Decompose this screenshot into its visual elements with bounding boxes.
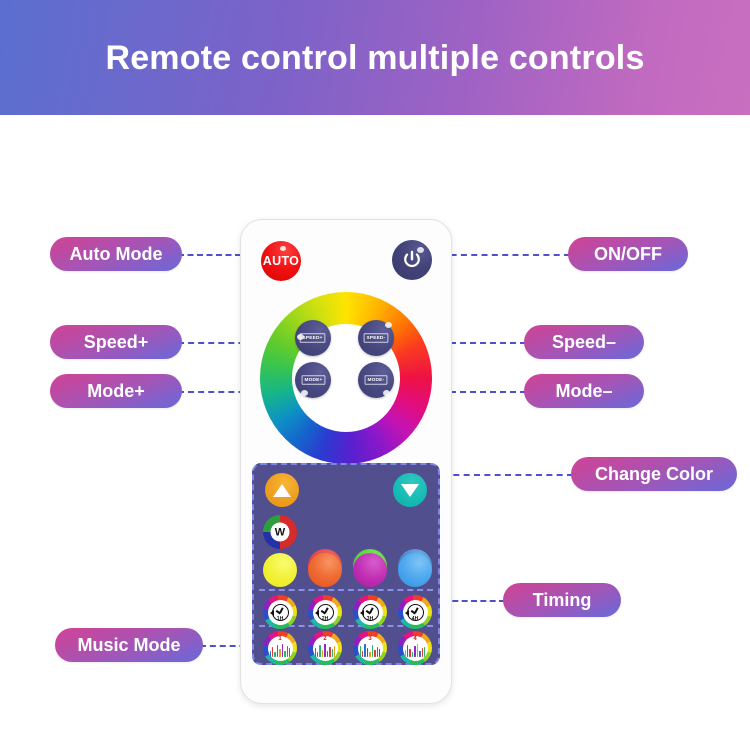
equalizer-icon: 3 <box>360 640 381 657</box>
label-mode-plus[interactable]: Mode+ <box>50 374 182 408</box>
mode-down-glare-icon <box>383 390 390 396</box>
label-on-off-text: ON/OFF <box>594 244 662 265</box>
label-speed-minus[interactable]: Speed– <box>524 325 644 359</box>
music-mode-2-label: 2 <box>323 636 326 642</box>
label-auto-mode-text: Auto Mode <box>70 244 163 265</box>
label-mode-plus-text: Mode+ <box>87 381 145 402</box>
label-speed-plus-text: Speed+ <box>84 332 149 353</box>
timer-2h-label: 2H <box>316 617 335 622</box>
brightness-up-icon <box>273 484 291 497</box>
timer-4h-label: 4H <box>406 617 425 622</box>
orange-button[interactable] <box>308 553 342 587</box>
page-title: Remote control multiple controls <box>105 41 644 75</box>
equalizer-icon: 2 <box>315 640 336 657</box>
clock-arrow-icon <box>270 610 274 616</box>
clock-icon: 1H <box>271 603 290 622</box>
music-mode-4-button[interactable]: 4 <box>398 631 432 665</box>
music-mode-4-label: 4 <box>413 636 416 642</box>
lightblue-button[interactable] <box>398 553 432 587</box>
timer-2h-core: 2H <box>313 600 338 625</box>
label-mode-minus-text: Mode– <box>555 381 612 402</box>
music-row: 1 2 <box>263 631 433 665</box>
yellow-button[interactable] <box>263 553 297 587</box>
label-speed-plus[interactable]: Speed+ <box>50 325 182 359</box>
keypad-divider-timing <box>259 589 433 591</box>
speed-down-glare-icon <box>385 322 392 328</box>
label-mode-minus[interactable]: Mode– <box>524 374 644 408</box>
speed-up-label: SPEED+ <box>300 333 326 343</box>
brightness-up-button[interactable] <box>265 473 299 507</box>
keypad-panel: W R G B <box>252 463 440 665</box>
label-change-color[interactable]: Change Color <box>571 457 737 491</box>
timer-3h-button[interactable]: 3H <box>353 595 387 629</box>
power-icon <box>401 249 423 271</box>
label-on-off[interactable]: ON/OFF <box>568 237 688 271</box>
label-music-mode-text: Music Mode <box>77 635 180 656</box>
auto-button-label: AUTO <box>263 254 299 268</box>
equalizer-icon: 4 <box>405 640 426 657</box>
speed-up-button[interactable]: SPEED+ <box>295 320 331 356</box>
music-mode-1-button[interactable]: 1 <box>263 631 297 665</box>
speed-down-label: SPEED- <box>364 333 389 343</box>
white-button[interactable]: W <box>263 515 297 549</box>
timer-1h-button[interactable]: 1H <box>263 595 297 629</box>
color-row-primary: W R G B <box>263 515 433 549</box>
timer-4h-core: 4H <box>403 600 428 625</box>
brightness-down-icon <box>401 484 419 497</box>
mode-up-glare-icon <box>301 390 308 396</box>
power-button[interactable] <box>392 240 432 280</box>
white-button-label: W <box>271 523 290 542</box>
mode-up-button[interactable]: MODE+ <box>295 362 331 398</box>
music-mode-2-button[interactable]: 2 <box>308 631 342 665</box>
music-mode-4-core: 4 <box>403 636 428 661</box>
label-speed-minus-text: Speed– <box>552 332 616 353</box>
mode-down-label: MODE- <box>365 375 387 385</box>
clock-icon: 2H <box>316 603 335 622</box>
label-timing-text: Timing <box>533 590 592 611</box>
magenta-button[interactable] <box>353 553 387 587</box>
label-change-color-text: Change Color <box>595 464 713 485</box>
music-mode-1-label: 1 <box>278 636 281 642</box>
music-mode-3-button[interactable]: 3 <box>353 631 387 665</box>
music-mode-2-core: 2 <box>313 636 338 661</box>
speed-down-button[interactable]: SPEED- <box>358 320 394 356</box>
music-mode-3-core: 3 <box>358 636 383 661</box>
timer-2h-button[interactable]: 2H <box>308 595 342 629</box>
remote-control-body: AUTO SPEED+ SPEED- MODE+ MODE- <box>240 219 452 704</box>
color-wheel[interactable] <box>260 292 432 464</box>
mode-up-label: MODE+ <box>301 375 325 385</box>
connector-timing <box>443 600 505 602</box>
timer-1h-label: 1H <box>271 617 290 622</box>
clock-arrow-icon <box>315 610 319 616</box>
label-music-mode[interactable]: Music Mode <box>55 628 203 662</box>
label-auto-mode[interactable]: Auto Mode <box>50 237 182 271</box>
auto-button[interactable]: AUTO <box>261 241 301 281</box>
timer-1h-core: 1H <box>268 600 293 625</box>
mode-down-button[interactable]: MODE- <box>358 362 394 398</box>
timing-row: 1H 2H <box>263 595 433 629</box>
timer-3h-core: 3H <box>358 600 383 625</box>
page-header: Remote control multiple controls <box>0 0 750 115</box>
clock-icon: 3H <box>361 603 380 622</box>
brightness-down-button[interactable] <box>393 473 427 507</box>
music-mode-3-label: 3 <box>368 636 371 642</box>
equalizer-icon: 1 <box>270 640 291 657</box>
timer-4h-button[interactable]: 4H <box>398 595 432 629</box>
clock-arrow-icon <box>360 610 364 616</box>
music-mode-1-core: 1 <box>268 636 293 661</box>
connector-change-color <box>443 474 573 476</box>
color-row-secondary <box>263 553 433 587</box>
clock-icon: 4H <box>406 603 425 622</box>
clock-arrow-icon <box>405 610 409 616</box>
timer-3h-label: 3H <box>361 617 380 622</box>
label-timing[interactable]: Timing <box>503 583 621 617</box>
